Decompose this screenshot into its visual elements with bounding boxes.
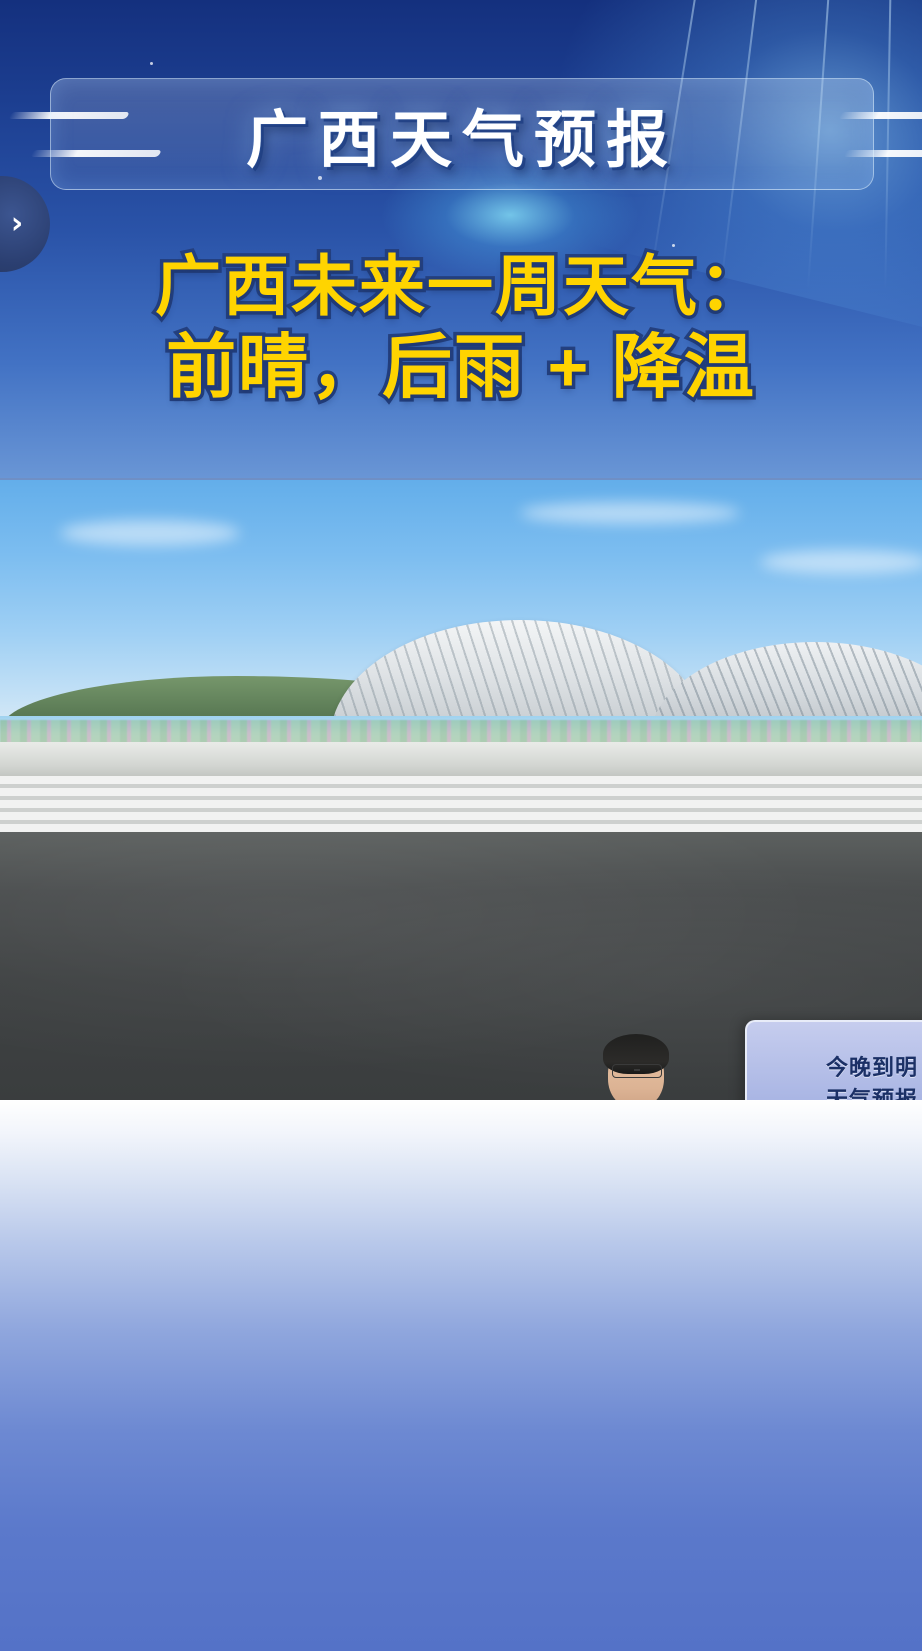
cloud-wisp — [60, 520, 240, 546]
sparkle — [250, 1420, 254, 1424]
headline-line-2: 前晴，后雨 + 降温 — [0, 326, 922, 409]
sparkle — [672, 244, 675, 247]
cloud-wisp — [760, 550, 922, 574]
broadcast-video[interactable]: 周前期以多云天气为主 中后期受冷空气 和暖湿气流共同影响 我区多阴雨天气 未来一… — [0, 478, 922, 1104]
footer-source: 广西气象 — [0, 1138, 922, 1219]
presenter-neck — [622, 1100, 650, 1104]
forecast-title-line-1: 今晚到明 — [826, 1055, 918, 1080]
chevron-right-icon: › — [11, 209, 23, 239]
forecast-title-line-2: 天气预报 — [826, 1087, 918, 1104]
sparkle — [718, 1365, 722, 1369]
sparkle — [806, 1190, 809, 1193]
weather-presenter — [560, 1028, 730, 1104]
light-ray — [884, 0, 892, 290]
glasses-icon — [612, 1064, 662, 1078]
footer-date: 2026年3月6日 — [0, 1235, 922, 1325]
weather-broadcast-page: 广西天气预报 › 广西未来一周天气： 前晴，后雨 + 降温 — [0, 0, 922, 1651]
footer-credit: 广西气象 2026年3月6日 — [0, 1138, 922, 1325]
forecast-card-title: 今晚到明 天气预报 — [747, 1052, 922, 1104]
header-banner: 广西天气预报 — [50, 78, 874, 190]
cloud-wisp — [520, 502, 740, 524]
sparkle — [432, 1520, 435, 1523]
headline-line-1: 广西未来一周天气： — [0, 248, 922, 326]
city-forecast-card: 今晚到明 天气预报 桂林 22℃ 12℃ — [745, 1020, 922, 1104]
banner-title: 广西天气预报 — [51, 79, 873, 189]
sparkle — [150, 62, 153, 65]
page-headline: 广西未来一周天气： 前晴，后雨 + 降温 — [0, 248, 922, 408]
plaza-steps — [0, 776, 922, 838]
